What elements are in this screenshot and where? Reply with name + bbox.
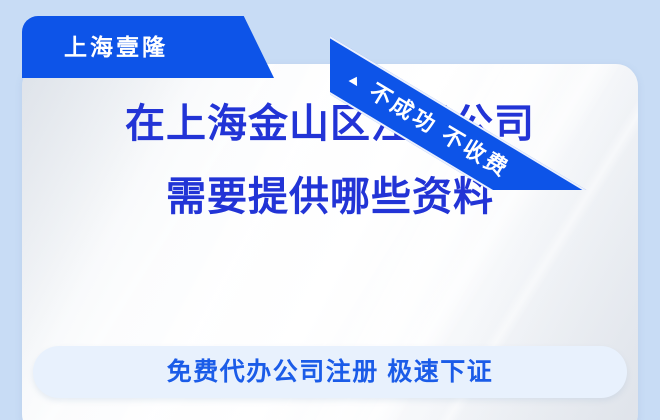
- cta-pill[interactable]: 免费代办公司注册 极速下证: [33, 346, 627, 398]
- brand-name-label: 上海壹隆: [64, 36, 168, 59]
- brand-tab-content: 上海壹隆: [22, 16, 274, 78]
- cta-pill-label: 免费代办公司注册 极速下证: [167, 360, 493, 385]
- headline: 在上海金山区注册公司 需要提供哪些资料: [0, 104, 660, 217]
- headline-line-2: 需要提供哪些资料: [0, 177, 660, 217]
- promo-poster: 上海壹隆 在上海金山区注册公司 需要提供哪些资料 免费代办公司注册 极速下证 不…: [0, 0, 660, 420]
- headline-line-1: 在上海金山区注册公司: [0, 104, 660, 144]
